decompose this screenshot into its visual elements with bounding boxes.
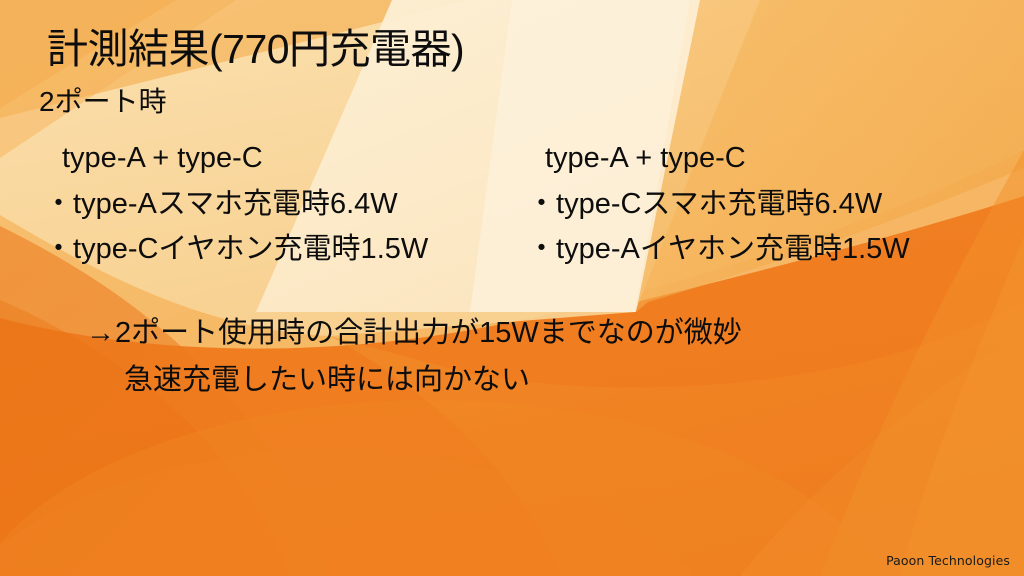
slide-canvas: 計測結果(770円充電器) 2ポート時 type-A + type-C ・typ… (0, 0, 1024, 576)
list-item-label: type-Aスマホ充電時6.4W (73, 188, 398, 220)
list-item-label: type-Aイヤホン充電時1.5W (556, 233, 910, 265)
measurement-column-left: type-A + type-C ・type-Aスマホ充電時6.4W ・type-… (44, 136, 428, 273)
conclusion-line-2: 急速充電したい時には向かない (86, 357, 742, 404)
list-item: ・type-Cスマホ充電時6.4W (527, 182, 910, 228)
column-right-header: type-A + type-C (527, 136, 910, 182)
bullet-marker: ・ (44, 182, 73, 228)
list-item: ・type-Aスマホ充電時6.4W (44, 182, 428, 228)
list-item: ・type-Cイヤホン充電時1.5W (44, 227, 428, 273)
list-item: ・type-Aイヤホン充電時1.5W (527, 227, 910, 273)
list-item-label: type-Cスマホ充電時6.4W (556, 188, 882, 220)
column-left-header: type-A + type-C (44, 136, 428, 182)
conclusion-line-1: →2ポート使用時の合計出力が15Wまでなのが微妙 (86, 317, 742, 349)
bullet-marker: ・ (527, 227, 556, 273)
list-item-label: type-Cイヤホン充電時1.5W (73, 233, 428, 265)
conclusion-block: →2ポート使用時の合計出力が15Wまでなのが微妙 急速充電したい時には向かない (86, 310, 742, 404)
slide-title: 計測結果(770円充電器) (47, 28, 464, 71)
bullet-marker: ・ (527, 182, 556, 228)
measurement-column-right: type-A + type-C ・type-Cスマホ充電時6.4W ・type-… (527, 136, 910, 273)
slide-subtitle: 2ポート時 (39, 87, 167, 118)
footer-branding: Paoon Technologies (886, 553, 1010, 568)
bullet-marker: ・ (44, 227, 73, 273)
